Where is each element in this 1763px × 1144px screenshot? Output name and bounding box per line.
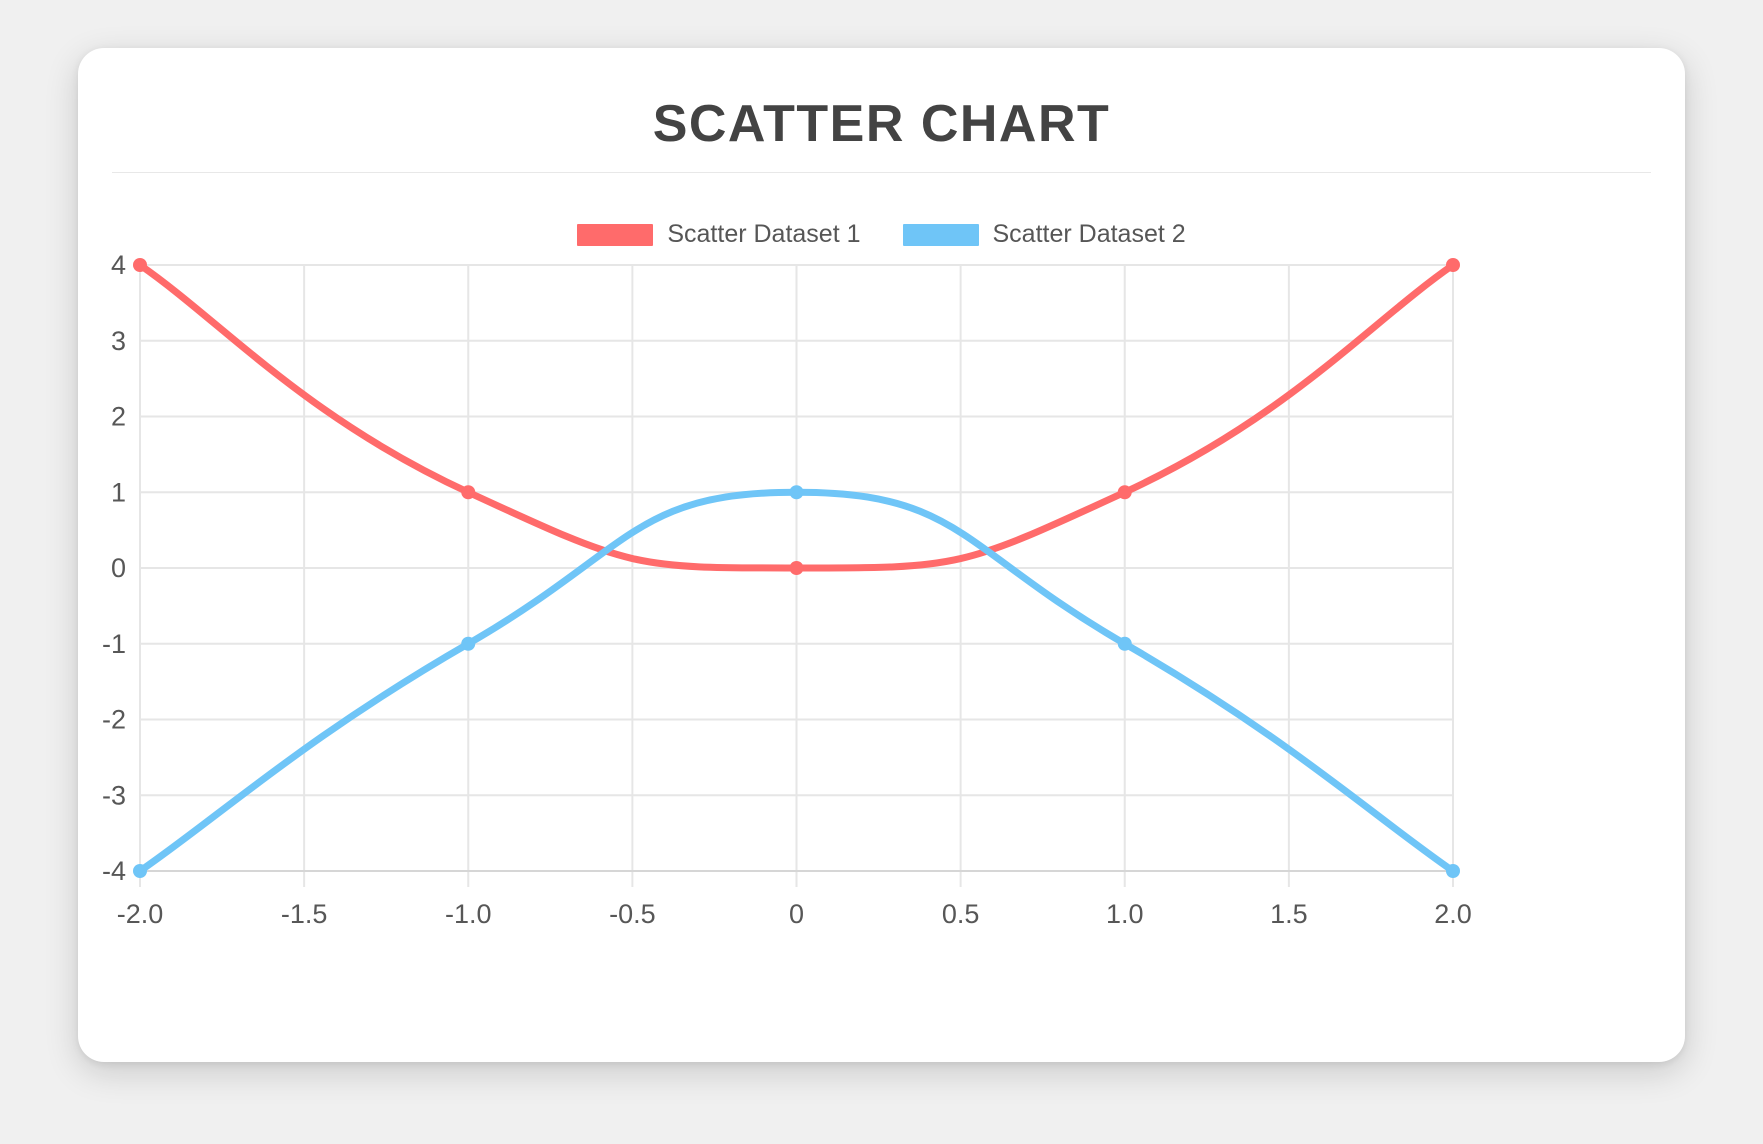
- x-tick-label: 0.5: [942, 899, 980, 929]
- data-point[interactable]: [1446, 258, 1460, 272]
- data-point[interactable]: [133, 864, 147, 878]
- y-tick-label: 4: [111, 250, 126, 280]
- x-tick-label: 1.0: [1106, 899, 1144, 929]
- plot-area[interactable]: 43210-1-2-3-4-2.0-1.5-1.0-0.500.51.01.52…: [78, 48, 1685, 1062]
- scatter-plot-svg[interactable]: 43210-1-2-3-4-2.0-1.5-1.0-0.500.51.01.52…: [78, 48, 1685, 1062]
- data-point[interactable]: [1446, 864, 1460, 878]
- data-point[interactable]: [461, 485, 475, 499]
- x-tick-label: -1.0: [445, 899, 492, 929]
- y-tick-label: 3: [111, 326, 126, 356]
- y-tick-label: 0: [111, 553, 126, 583]
- y-tick-label: -1: [102, 629, 126, 659]
- x-tick-label: -1.5: [281, 899, 328, 929]
- grid-lines: [140, 265, 1453, 887]
- data-point[interactable]: [133, 258, 147, 272]
- y-tick-label: -3: [102, 780, 126, 810]
- x-tick-label: 2.0: [1434, 899, 1472, 929]
- data-point[interactable]: [1118, 485, 1132, 499]
- chart-card: SCATTER CHART Scatter Dataset 1 Scatter …: [78, 48, 1685, 1062]
- data-point[interactable]: [790, 561, 804, 575]
- page-root: SCATTER CHART Scatter Dataset 1 Scatter …: [0, 0, 1763, 1144]
- axis-tick-labels: 43210-1-2-3-4-2.0-1.5-1.0-0.500.51.01.52…: [102, 250, 1472, 929]
- data-point[interactable]: [790, 485, 804, 499]
- y-tick-label: 1: [111, 477, 126, 507]
- y-tick-label: -4: [102, 856, 126, 886]
- data-point[interactable]: [1118, 637, 1132, 651]
- x-tick-label: 1.5: [1270, 899, 1308, 929]
- x-tick-label: -2.0: [117, 899, 164, 929]
- x-tick-label: 0: [789, 899, 804, 929]
- y-tick-label: -2: [102, 705, 126, 735]
- data-point[interactable]: [461, 637, 475, 651]
- y-tick-label: 2: [111, 402, 126, 432]
- x-tick-label: -0.5: [609, 899, 656, 929]
